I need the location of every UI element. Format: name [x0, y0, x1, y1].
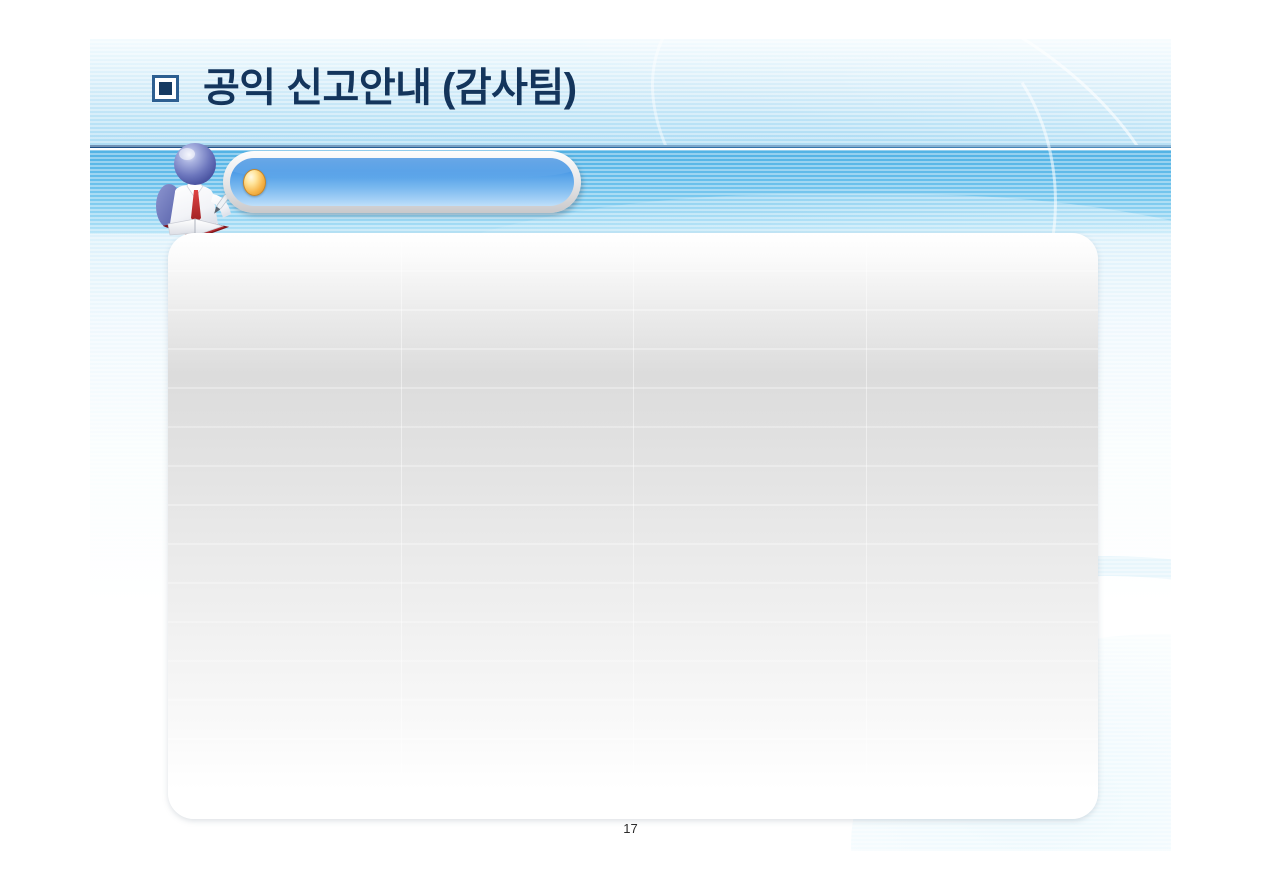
content-panel-text — [168, 233, 1098, 819]
section-banner[interactable] — [223, 151, 581, 213]
presentation-slide: 공익 신고안내 (감사팀) — [90, 39, 1171, 851]
page-title: 공익 신고안내 (감사팀) — [203, 68, 577, 108]
section-banner-inner — [230, 158, 574, 206]
gold-sphere-icon — [243, 169, 266, 196]
slide-title-row: 공익 신고안내 (감사팀) — [152, 68, 577, 108]
filled-square-outline-icon — [152, 75, 179, 102]
content-panel — [168, 233, 1098, 819]
page-number: 17 — [90, 821, 1171, 836]
